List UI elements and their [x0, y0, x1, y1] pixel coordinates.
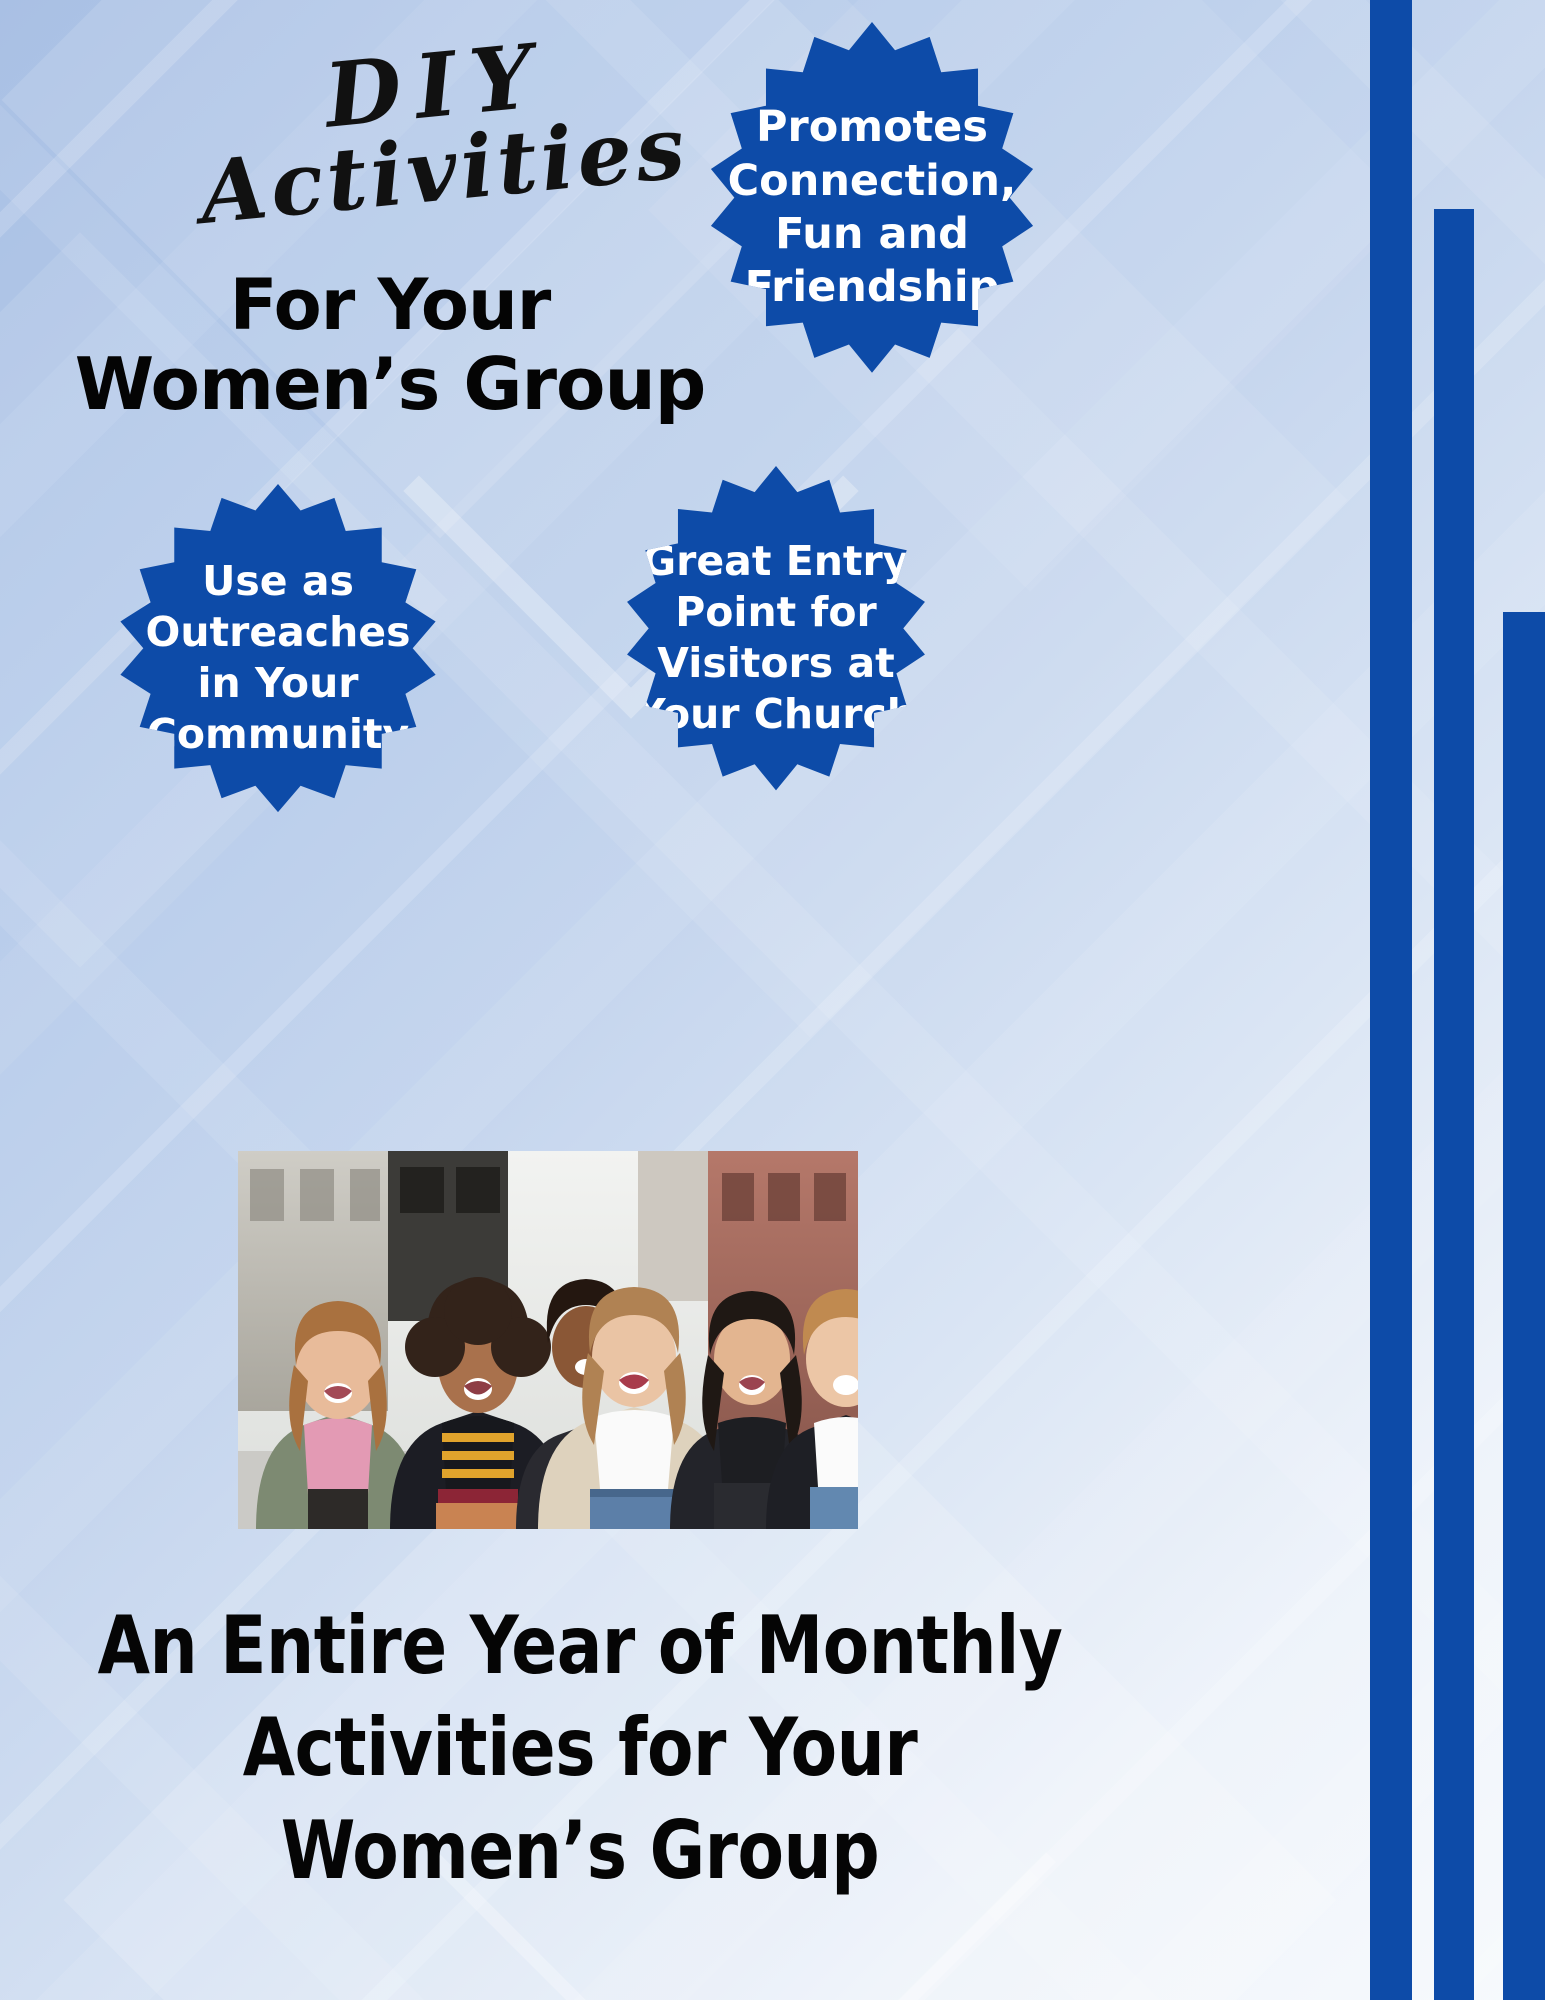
bottom-headline-line-3: Women’s Group: [91, 1800, 1069, 1902]
badge-line: Great Entry: [636, 536, 916, 587]
group-photo-illustration: [238, 1151, 858, 1529]
badge-line: in Your: [145, 658, 410, 709]
vertical-accent-bar-3: [1503, 612, 1545, 2000]
bottom-headline-line-2: Activities for Your: [91, 1697, 1069, 1799]
bottom-headline-line-1: An Entire Year of Monthly: [91, 1595, 1069, 1697]
badge-line: Point for: [636, 587, 916, 638]
badge-text: Promotes Connection, Fun and Friendship: [722, 101, 1023, 314]
group-photo: [238, 1151, 858, 1529]
badge-line: Visitors at: [636, 638, 916, 689]
bottom-headline: An Entire Year of Monthly Activities for…: [91, 1595, 1069, 1902]
badge-text: Use as Outreaches in Your Community: [139, 556, 416, 759]
badge-line: Use as: [145, 556, 410, 607]
badge-text: Great Entry Point for Visitors at Your C…: [630, 536, 922, 739]
script-title: DIY Activities: [153, 18, 726, 238]
page-title: For Your Women’s Group: [40, 266, 740, 425]
badge-line: Promotes: [728, 101, 1017, 154]
vertical-accent-bar-1: [1370, 0, 1412, 2000]
headline-line-1: For Your: [40, 266, 740, 344]
badge-line: Outreaches: [145, 607, 410, 658]
badge-use-as-outreaches: Use as Outreaches in Your Community: [96, 484, 460, 832]
headline-line-2: Women’s Group: [40, 344, 740, 425]
badge-line: Friendship: [728, 261, 1017, 314]
badge-line: Fun and: [728, 208, 1017, 261]
vertical-accent-bar-2: [1434, 209, 1474, 2000]
badge-line: Connection,: [728, 155, 1017, 208]
badge-line: Your Church: [636, 689, 916, 740]
badge-great-entry-point: Great Entry Point for Visitors at Your C…: [604, 466, 948, 810]
badge-line: Community: [145, 709, 410, 760]
poster-canvas: DIY Activities For Your Women’s Group Pr…: [0, 0, 1545, 2000]
badge-promotes-connection: Promotes Connection, Fun and Friendship: [686, 22, 1058, 394]
